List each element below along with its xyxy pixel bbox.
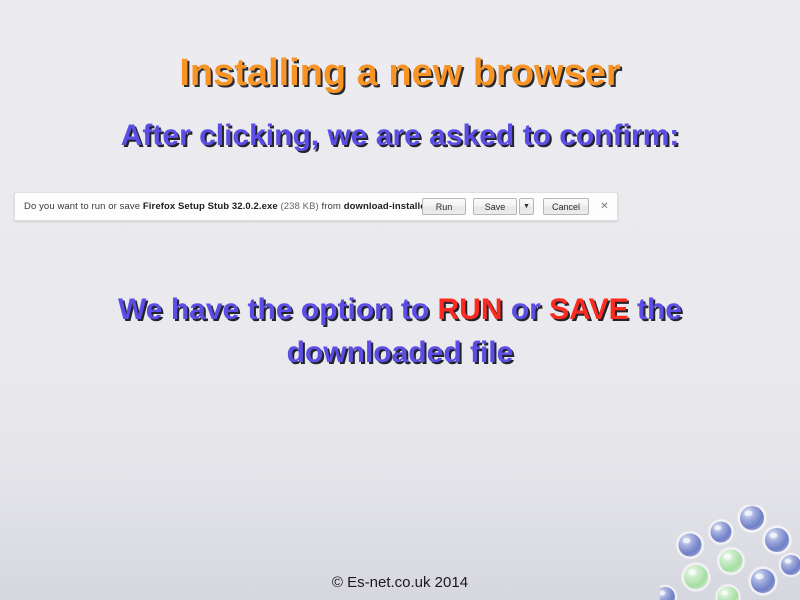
body-text-part-3: the bbox=[629, 293, 682, 326]
footer-copyright: © Es-net.co.uk 2014 bbox=[0, 574, 800, 591]
download-prompt-text: Do you want to run or save Firefox Setup… bbox=[15, 201, 422, 212]
download-filename: Firefox Setup Stub 32.0.2.exe bbox=[143, 201, 278, 212]
prompt-prefix: Do you want to run or save bbox=[24, 201, 143, 212]
save-button-group: Save ▼ bbox=[473, 198, 536, 215]
body-text-part-2: or bbox=[502, 293, 549, 326]
body-text-line-2: downloaded file bbox=[287, 336, 514, 369]
run-button[interactable]: Run bbox=[422, 198, 466, 215]
body-text: We have the option to RUN or SAVE thedow… bbox=[55, 288, 745, 374]
body-keyword-run: RUN bbox=[437, 293, 502, 326]
slide-canvas: Installing a new browser After clicking,… bbox=[0, 0, 800, 600]
prompt-from: from bbox=[319, 201, 344, 212]
download-notification-bar: Do you want to run or save Firefox Setup… bbox=[14, 192, 618, 221]
download-filesize: (238 KB) bbox=[278, 201, 319, 212]
body-keyword-save: SAVE bbox=[549, 293, 628, 326]
cancel-button[interactable]: Cancel bbox=[543, 198, 589, 215]
close-icon[interactable]: ✕ bbox=[598, 200, 611, 213]
download-actions: Run Save ▼ Cancel ✕ bbox=[422, 198, 617, 215]
save-button[interactable]: Save bbox=[473, 198, 517, 215]
page-title: Installing a new browser bbox=[0, 52, 800, 95]
slide-subtitle: After clicking, we are asked to confirm: bbox=[0, 119, 800, 153]
download-host: download-installer.cdn.mozilla.net bbox=[344, 201, 422, 212]
body-text-part-1: We have the option to bbox=[118, 293, 437, 326]
chevron-down-icon[interactable]: ▼ bbox=[519, 198, 534, 215]
